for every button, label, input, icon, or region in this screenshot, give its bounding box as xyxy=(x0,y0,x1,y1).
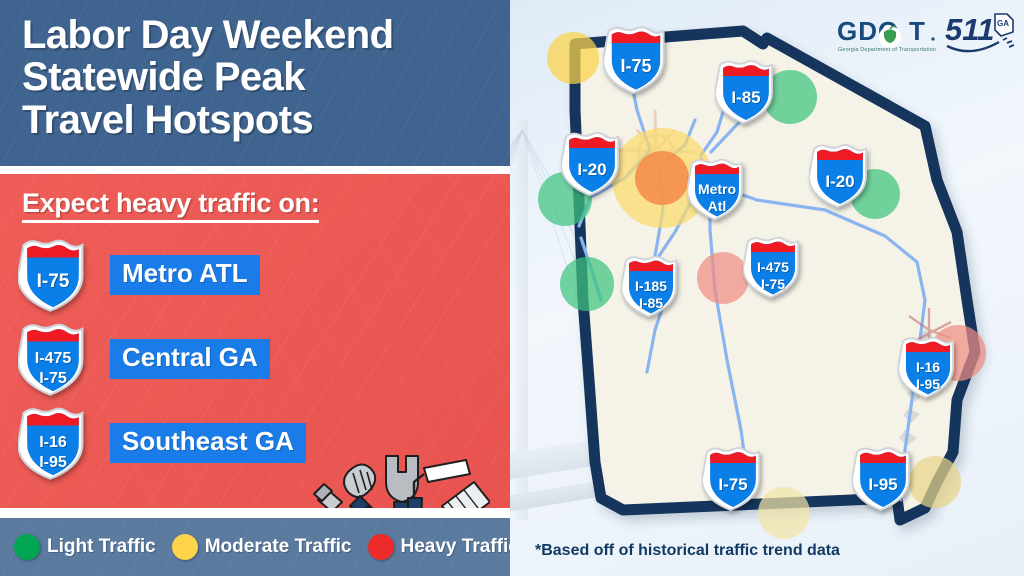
gdot-logo: GDO T Georgia Department of Transportati… xyxy=(835,14,943,56)
shield-i20-east: I-20 xyxy=(809,140,871,211)
legend-item: Light Traffic xyxy=(14,534,156,560)
shield-text: I-20 xyxy=(561,161,623,178)
legend-color-dot xyxy=(172,534,198,560)
shield-i475-i75: I-475I-75 xyxy=(743,233,803,301)
legend-item: Moderate Traffic xyxy=(172,534,352,560)
title-line-2: Statewide Peak xyxy=(22,56,488,98)
divider-top xyxy=(0,166,510,174)
shield-text: Atl xyxy=(687,199,747,213)
spatula-icon xyxy=(344,464,380,508)
shield-text: I-95 xyxy=(852,476,914,493)
infographic-root: I-75I-85I-20MetroAtlI-20I-185I-85I-475I-… xyxy=(0,0,1024,576)
legend-label: Moderate Traffic xyxy=(205,536,352,558)
shield-i85-north: I-85 xyxy=(715,56,777,127)
legend-color-dot xyxy=(14,534,40,560)
legend-label: Heavy Traffic xyxy=(401,536,511,558)
shield-text: I-20 xyxy=(809,173,871,190)
shield-text: I-75 xyxy=(18,272,88,291)
logo-group: GDO T Georgia Department of Transportati… xyxy=(835,10,1015,60)
shield-i-475-i-75: I-475I-75 xyxy=(18,319,88,399)
svg-text:511: 511 xyxy=(945,12,994,47)
georgia-map: I-75I-85I-20MetroAtlI-20I-185I-85I-475I-… xyxy=(505,0,1024,576)
shield-text: I-16 xyxy=(18,435,88,451)
shield-metro-atl: MetroAtl xyxy=(687,155,747,223)
shield-i185-i85: I-185I-85 xyxy=(621,252,681,320)
title-line-3: Travel Hotspots xyxy=(22,99,488,141)
shield-text: I-85 xyxy=(621,296,681,310)
toolbox-illustration xyxy=(300,442,490,508)
shield-text: I-16 xyxy=(898,360,958,374)
legend-items: Light TrafficModerate TrafficHeavy Traff… xyxy=(0,518,510,576)
hotspot-list-panel: Expect heavy traffic on: I-75Metro ATLI-… xyxy=(0,174,510,508)
divider-bottom xyxy=(0,508,510,518)
paintbrush-icon xyxy=(420,482,490,508)
legend-label: Light Traffic xyxy=(47,536,156,558)
corridor-row: I-475I-75Central GA xyxy=(0,317,510,401)
corridor-label: Metro ATL xyxy=(110,255,260,294)
svg-text:T: T xyxy=(909,16,925,46)
shield-text: I-95 xyxy=(18,455,88,471)
shield-i-75: I-75 xyxy=(18,235,88,315)
page-title: Labor Day Weekend Statewide Peak Travel … xyxy=(0,0,510,141)
shield-text: I-85 xyxy=(715,89,777,106)
shield-text: I-95 xyxy=(898,377,958,391)
svg-text:GA: GA xyxy=(997,19,1009,28)
511-logo: 511 GA xyxy=(945,10,1017,56)
shield-text: I-475 xyxy=(18,351,88,367)
legend-item: Heavy Traffic xyxy=(368,534,511,560)
shield-text: I-475 xyxy=(743,260,803,274)
legend-color-dot xyxy=(368,534,394,560)
panel-subhead: Expect heavy traffic on: xyxy=(0,174,510,219)
shield-text: I-75 xyxy=(743,277,803,291)
shield-i20-west: I-20 xyxy=(561,128,623,199)
title-line-1: Labor Day Weekend xyxy=(22,14,488,56)
shield-text: I-185 xyxy=(621,279,681,293)
shield-i75-south: I-75 xyxy=(702,443,764,514)
shield-text: I-75 xyxy=(18,371,88,387)
shield-i95-south: I-95 xyxy=(852,443,914,514)
header-banner: Labor Day Weekend Statewide Peak Travel … xyxy=(0,0,510,166)
shield-i-16-i-95: I-16I-95 xyxy=(18,403,88,483)
shield-text: Metro xyxy=(687,182,747,196)
svg-text:Georgia Department of Transpor: Georgia Department of Transportation xyxy=(838,47,936,53)
map-footnote: *Based off of historical traffic trend d… xyxy=(535,542,840,560)
shield-i75-north: I-75 xyxy=(603,22,669,97)
corridor-row: I-75Metro ATL xyxy=(0,233,510,317)
corridor-label: Central GA xyxy=(110,339,270,378)
legend-bar: Light TrafficModerate TrafficHeavy Traff… xyxy=(0,518,510,576)
corridor-label: Southeast GA xyxy=(110,423,306,462)
panel-subhead-text: Expect heavy traffic on: xyxy=(22,188,319,223)
shield-text: I-75 xyxy=(702,476,764,493)
shield-i16-i95: I-16I-95 xyxy=(898,333,958,401)
shield-text: I-75 xyxy=(603,57,669,75)
